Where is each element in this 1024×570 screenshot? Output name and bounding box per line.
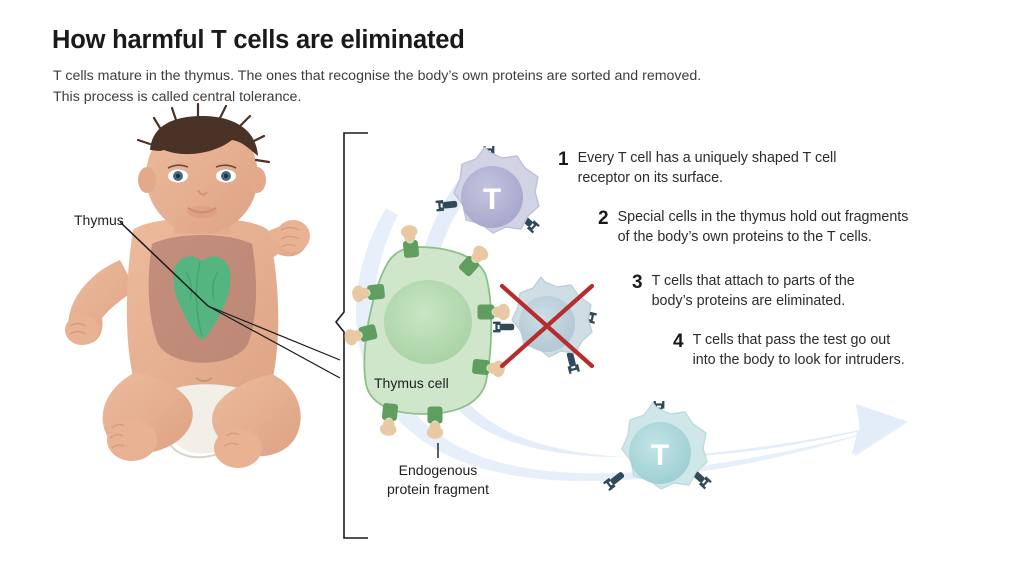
step-item-3: 3 T cells that attach to parts of the bo… bbox=[632, 272, 855, 311]
step-number-4: 4 bbox=[673, 331, 684, 351]
step-item-1: 1 Every T cell has a uniquely shaped T c… bbox=[558, 149, 836, 188]
infographic-canvas: How harmful T cells are eliminated T cel… bbox=[0, 0, 1024, 570]
step-text-4: T cells that pass the test go out into t… bbox=[684, 331, 905, 370]
diagram-artwork: T T bbox=[0, 0, 1024, 570]
step-text-2: Special cells in the thymus hold out fra… bbox=[609, 208, 909, 247]
step-number-2: 2 bbox=[598, 208, 609, 228]
t-cell-eliminated bbox=[493, 277, 597, 374]
step-number-1: 1 bbox=[558, 149, 569, 169]
t-cell-glyph-bottom: T bbox=[651, 439, 669, 472]
protein-fragment-label: Endogenous protein fragment bbox=[373, 461, 503, 499]
step-item-4: 4 T cells that pass the test go out into… bbox=[673, 331, 905, 370]
t-cell-glyph-top: T bbox=[483, 183, 501, 216]
step-text-3: T cells that attach to parts of the body… bbox=[643, 272, 855, 311]
step-number-3: 3 bbox=[632, 272, 643, 292]
t-cell-bottom: T bbox=[603, 401, 712, 491]
thymus-label: Thymus bbox=[74, 212, 124, 228]
step-item-2: 2 Special cells in the thymus hold out f… bbox=[598, 208, 908, 247]
thymus-cell-label: Thymus cell bbox=[374, 375, 449, 391]
step-text-1: Every T cell has a uniquely shaped T cel… bbox=[569, 149, 837, 188]
